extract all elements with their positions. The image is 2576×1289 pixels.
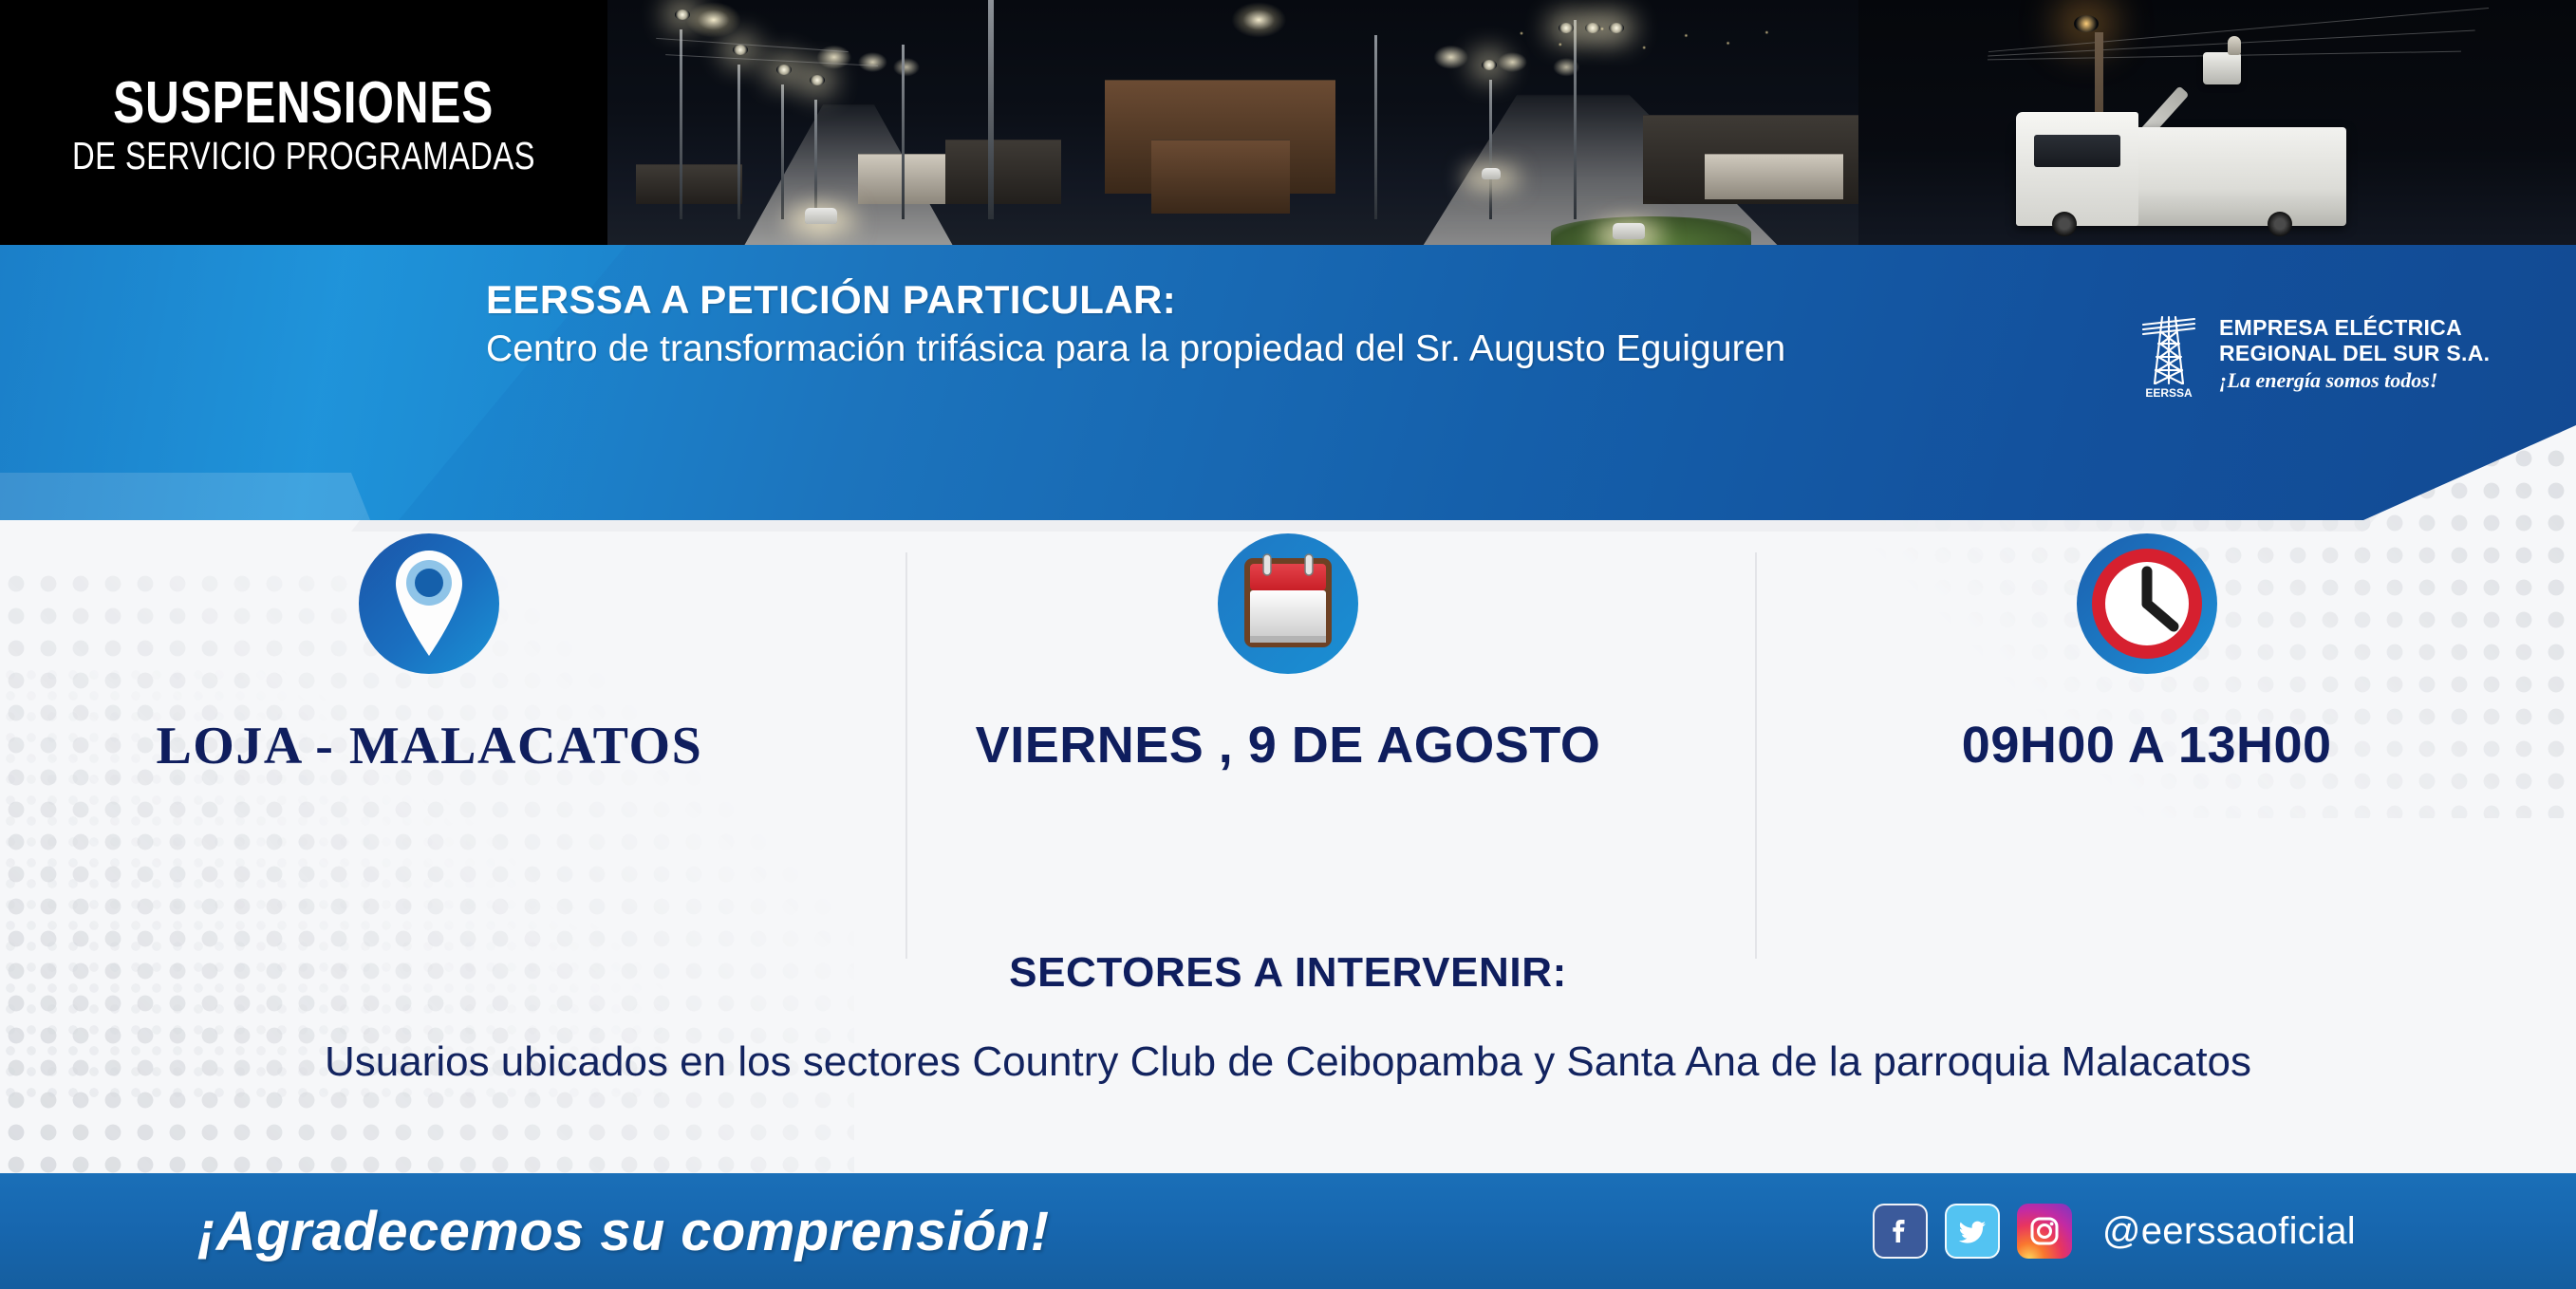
suspension-notice-poster: SUSPENSIONES DE SERVICIO PROGRAMADAS — [0, 0, 2576, 1289]
location-pin-icon — [357, 532, 501, 676]
poster-title-sub: DE SERVICIO PROGRAMADAS — [72, 137, 535, 176]
sectors-section: SECTORES A INTERVENIR: Usuarios ubicados… — [0, 949, 2576, 1089]
clock-icon-wrap — [2071, 528, 2223, 680]
logo-text-block: EMPRESA ELÉCTRICA REGIONAL DEL SUR S.A. … — [2219, 315, 2490, 394]
facebook-glyph — [1884, 1215, 1916, 1247]
logo-line-2: REGIONAL DEL SUR S.A. — [2219, 341, 2490, 365]
info-column-time: 09H00 A 13H00 — [1717, 528, 2576, 813]
eerssa-logo: EERSSA EMPRESA ELÉCTRICA REGIONAL DEL SU… — [2134, 309, 2490, 401]
social-links: @eerssaoficial — [1873, 1204, 2356, 1259]
calendar-icon — [1216, 532, 1360, 676]
info-column-date: VIERNES , 9 DE AGOSTO — [859, 528, 1718, 813]
logo-mark-label: EERSSA — [2145, 386, 2193, 400]
clock-icon — [2075, 532, 2219, 676]
logo-line-1: EMPRESA ELÉCTRICA — [2219, 315, 2490, 340]
transmission-tower-icon: EERSSA — [2134, 309, 2204, 401]
photo-night-street-2 — [1090, 0, 1858, 249]
social-handle: @eerssaoficial — [2102, 1210, 2356, 1253]
footer-message: ¡Agradecemos su comprensión! — [197, 1200, 1050, 1263]
date-label: VIERNES , 9 DE AGOSTO — [976, 716, 1601, 775]
sectors-heading: SECTORES A INTERVENIR: — [0, 949, 2576, 997]
logo-slogan: ¡La energía somos todos! — [2219, 367, 2490, 395]
title-panel: SUSPENSIONES DE SERVICIO PROGRAMADAS — [0, 0, 607, 249]
footer-bar: ¡Agradecemos su comprensión! @eerssao — [0, 1173, 2576, 1289]
photo-bucket-truck — [1858, 0, 2576, 249]
banner-subtitle: Centro de transformación trifásica para … — [486, 327, 2213, 371]
banner-text-block: EERSSA A PETICIÓN PARTICULAR: Centro de … — [486, 277, 2213, 371]
instagram-glyph — [2026, 1213, 2063, 1249]
location-label: LOJA - MALACATOS — [156, 716, 702, 776]
poster-title-main: SUSPENSIONES — [114, 74, 495, 133]
instagram-icon[interactable] — [2017, 1204, 2072, 1259]
twitter-icon[interactable] — [1945, 1204, 2000, 1259]
photo-night-street-1 — [607, 0, 1090, 249]
facebook-icon[interactable] — [1873, 1204, 1928, 1259]
info-column-location: LOJA - MALACATOS — [0, 528, 859, 813]
time-label: 09H00 A 13H00 — [1962, 716, 2332, 775]
calendar-icon-wrap — [1212, 528, 1364, 680]
banner-title: EERSSA A PETICIÓN PARTICULAR: — [486, 277, 2213, 322]
header-photo-strip: SUSPENSIONES DE SERVICIO PROGRAMADAS — [0, 0, 2576, 249]
location-icon-wrap — [353, 528, 505, 680]
sectors-body: Usuarios ubicados en los sectores Countr… — [196, 1035, 2380, 1089]
twitter-glyph — [1955, 1214, 1989, 1248]
info-row: LOJA - MALACATOS — [0, 528, 2576, 813]
